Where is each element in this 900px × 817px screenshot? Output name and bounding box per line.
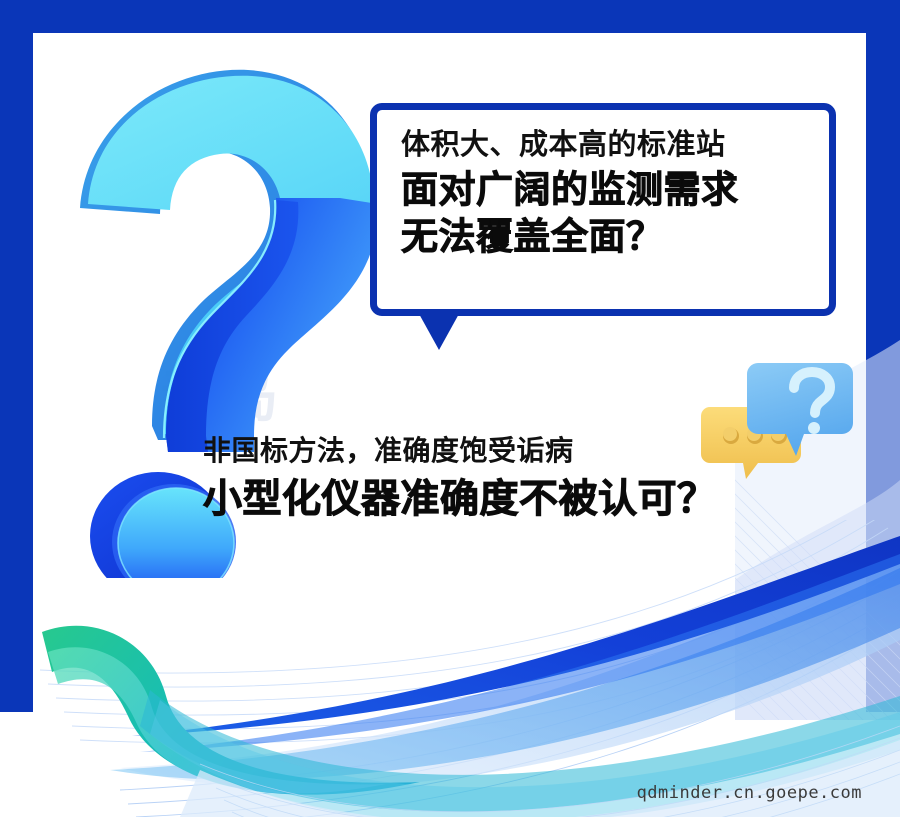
lower-mainline: 小型化仪器准确度不被认可？	[203, 476, 717, 525]
site-watermark: qdminder.cn.goepe.com	[637, 783, 862, 803]
callout-box: 体积大、成本高的标准站 面对广阔的监测需求 无法覆盖全面？	[370, 103, 836, 316]
callout-subline: 体积大、成本高的标准站	[401, 124, 809, 166]
poster-canvas: 青岛	[0, 0, 900, 817]
callout-tail	[418, 312, 460, 350]
callout-mainline-1: 面对广阔的监测需求	[401, 166, 809, 213]
chat-bubbles-icon-group	[700, 355, 860, 485]
callout-mainline-2: 无法覆盖全面？	[401, 213, 809, 260]
lower-statement-block: 非国标方法，准确度饱受诟病 小型化仪器准确度不被认可？	[203, 432, 717, 525]
lower-subline: 非国标方法，准确度饱受诟病	[203, 432, 717, 470]
callout-inner: 体积大、成本高的标准站 面对广阔的监测需求 无法覆盖全面？	[377, 110, 829, 309]
